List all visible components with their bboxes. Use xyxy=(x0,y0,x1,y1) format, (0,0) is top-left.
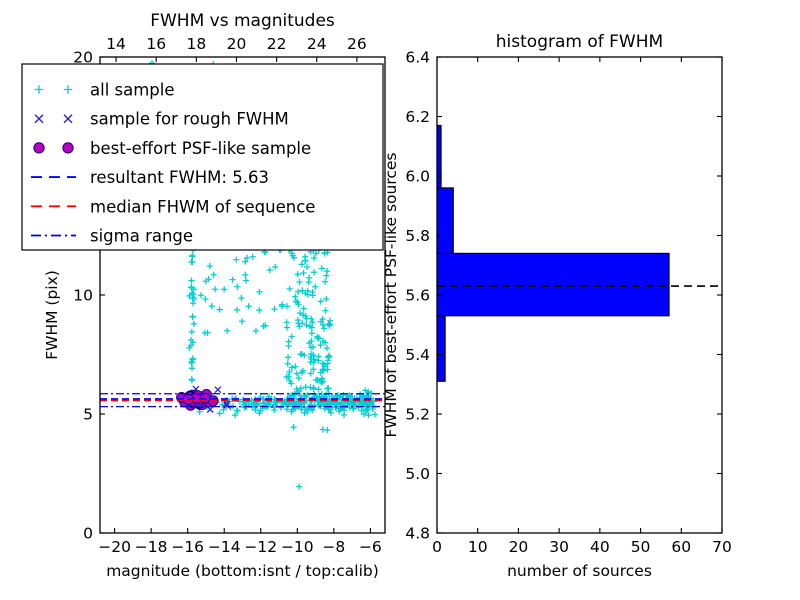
marker-plus xyxy=(311,269,317,275)
marker-plus xyxy=(321,325,327,331)
marker-plus xyxy=(189,376,195,382)
histogram-bar xyxy=(437,316,445,381)
marker-plus xyxy=(202,296,208,302)
matplotlib-figure: −20−18−16−14−12−10−8−6magnitude (bottom:… xyxy=(0,0,800,600)
legend[interactable]: all samplesample for rough FWHMbest-effo… xyxy=(22,64,383,250)
xtick-label: 0 xyxy=(432,538,442,556)
legend-label: resultant FWHM: 5.63 xyxy=(90,168,269,187)
ytick-label: 5.0 xyxy=(405,465,430,483)
marker-plus xyxy=(271,306,277,312)
marker-plus xyxy=(324,345,330,351)
marker-plus xyxy=(285,354,291,360)
scatter-xaxis-bottom: −20−18−16−14−12−10−8−6 xyxy=(98,528,382,556)
xtick-top-label: 26 xyxy=(347,35,367,53)
marker-plus xyxy=(190,313,196,319)
legend-label: all sample xyxy=(90,81,175,100)
marker-plus xyxy=(209,303,215,309)
marker-plus xyxy=(238,295,244,301)
xtick-top-label: 20 xyxy=(227,35,247,53)
marker-plus xyxy=(242,272,248,278)
scatter-xlabel: magnitude (bottom:isnt / top:calib) xyxy=(106,562,379,580)
marker-plus xyxy=(323,273,329,279)
ytick-label: 4.8 xyxy=(405,525,430,543)
figure-canvas: −20−18−16−14−12−10−8−6magnitude (bottom:… xyxy=(0,0,800,600)
legend-marker-circle-icon xyxy=(63,143,73,153)
ytick-label: 0 xyxy=(83,525,93,543)
marker-plus xyxy=(295,271,301,277)
xtick-label: 10 xyxy=(468,538,488,556)
marker-plus xyxy=(285,361,291,367)
xtick-top-label: 14 xyxy=(106,35,126,53)
histogram-ylabel: FWHM of best-effort PSF-like sources xyxy=(382,152,400,437)
marker-plus xyxy=(287,286,293,292)
marker-plus xyxy=(318,298,324,304)
marker-plus xyxy=(234,307,240,313)
xtick-label: −14 xyxy=(208,538,241,556)
marker-plus xyxy=(323,296,329,302)
ytick-label: 5.6 xyxy=(405,287,430,305)
marker-plus xyxy=(315,386,321,392)
marker-plus xyxy=(234,284,240,290)
legend-label: sigma range xyxy=(90,227,193,246)
legend-label: median FHWM of sequence xyxy=(90,197,315,216)
marker-plus xyxy=(303,384,309,390)
xtick-label: 30 xyxy=(549,538,569,556)
marker-plus xyxy=(292,294,298,300)
marker-plus xyxy=(221,286,227,292)
xtick-top-label: 22 xyxy=(267,35,287,53)
histogram-bars xyxy=(437,125,669,381)
marker-plus xyxy=(308,316,314,322)
scatter-ylabel: FWHM (pix) xyxy=(43,270,61,360)
marker-plus xyxy=(189,365,195,371)
marker-plus xyxy=(189,253,195,259)
marker-plus xyxy=(212,286,218,292)
histogram-bar xyxy=(437,253,669,315)
ytick-label: 5 xyxy=(83,406,93,424)
marker-plus xyxy=(189,329,195,335)
xtick-label: 60 xyxy=(671,538,691,556)
marker-plus xyxy=(309,330,315,336)
marker-plus xyxy=(217,306,223,312)
marker-plus xyxy=(250,254,256,260)
marker-plus xyxy=(301,306,307,312)
xtick-top-label: 16 xyxy=(146,35,166,53)
xtick-label: −6 xyxy=(359,538,382,556)
marker-plus xyxy=(291,424,297,430)
xtick-label: −16 xyxy=(171,538,204,556)
marker-plus xyxy=(284,324,290,330)
marker-plus xyxy=(292,363,298,369)
ytick-label: 5.2 xyxy=(405,406,430,424)
marker-plus xyxy=(211,272,217,278)
marker-plus xyxy=(325,360,331,366)
ytick-label: 10 xyxy=(73,287,93,305)
histogram-title: histogram of FWHM xyxy=(496,32,663,52)
marker-plus xyxy=(256,307,262,313)
xtick-label: −10 xyxy=(281,538,314,556)
marker-plus xyxy=(256,289,262,295)
legend-label: best-effort PSF-like sample xyxy=(90,139,311,158)
marker-plus xyxy=(267,267,273,273)
marker-plus xyxy=(302,258,308,264)
xtick-label: −20 xyxy=(98,538,131,556)
marker-plus xyxy=(372,411,378,417)
scatter-xaxis-top: 14161820222426 xyxy=(106,35,367,62)
marker-plus xyxy=(253,328,259,334)
xtick-label: 40 xyxy=(590,538,610,556)
ytick-label: 5.8 xyxy=(405,227,430,245)
xtick-top-label: 24 xyxy=(307,35,327,53)
marker-plus xyxy=(190,355,196,361)
marker-plus xyxy=(188,277,194,283)
ytick-label: 6.4 xyxy=(405,49,430,67)
ytick-label: 6.0 xyxy=(405,168,430,186)
marker-cross xyxy=(215,387,221,393)
legend-label: sample for rough FWHM xyxy=(90,110,289,129)
xtick-label: 20 xyxy=(509,538,529,556)
marker-plus xyxy=(310,385,316,391)
marker-plus xyxy=(324,427,330,433)
xtick-label: 50 xyxy=(631,538,651,556)
marker-plus xyxy=(207,263,213,269)
marker-plus xyxy=(233,257,239,263)
xtick-top-label: 18 xyxy=(186,35,206,53)
xtick-label: 70 xyxy=(712,538,732,556)
marker-plus xyxy=(239,318,245,324)
marker-plus xyxy=(217,410,223,416)
marker-plus xyxy=(289,334,295,340)
marker-plus xyxy=(306,275,312,281)
marker-plus xyxy=(224,328,230,334)
xtick-label: −18 xyxy=(135,538,168,556)
marker-plus xyxy=(304,264,310,270)
marker-plus xyxy=(189,360,195,366)
scatter-title: FWHM vs magnitudes xyxy=(150,11,335,31)
marker-plus xyxy=(286,339,292,345)
marker-plus xyxy=(295,289,301,295)
ytick-label: 5.4 xyxy=(405,346,430,364)
marker-plus xyxy=(191,321,197,327)
legend-marker-circle-icon xyxy=(34,143,44,153)
marker-plus xyxy=(300,270,306,276)
marker-plus xyxy=(246,303,252,309)
histogram-xlabel: number of sources xyxy=(507,562,652,580)
marker-plus xyxy=(365,412,371,418)
xtick-label: −12 xyxy=(244,538,277,556)
marker-plus xyxy=(310,292,316,298)
marker-plus xyxy=(312,284,318,290)
histogram-panel: 010203040506070number of sources4.85.05.… xyxy=(382,32,732,580)
marker-plus xyxy=(322,308,328,314)
marker-plus xyxy=(315,335,321,341)
marker-plus xyxy=(325,385,331,391)
histogram-bar xyxy=(437,188,453,253)
marker-plus xyxy=(296,279,302,285)
marker-plus xyxy=(313,377,319,383)
marker-plus xyxy=(299,261,305,267)
marker-plus xyxy=(272,264,278,270)
ytick-label: 6.2 xyxy=(405,108,430,126)
marker-plus xyxy=(243,277,249,283)
marker-plus xyxy=(229,277,235,283)
marker-plus xyxy=(296,483,302,489)
marker-plus xyxy=(322,279,328,285)
marker-plus xyxy=(198,292,204,298)
marker-plus xyxy=(188,259,194,265)
xtick-label: −8 xyxy=(322,538,345,556)
